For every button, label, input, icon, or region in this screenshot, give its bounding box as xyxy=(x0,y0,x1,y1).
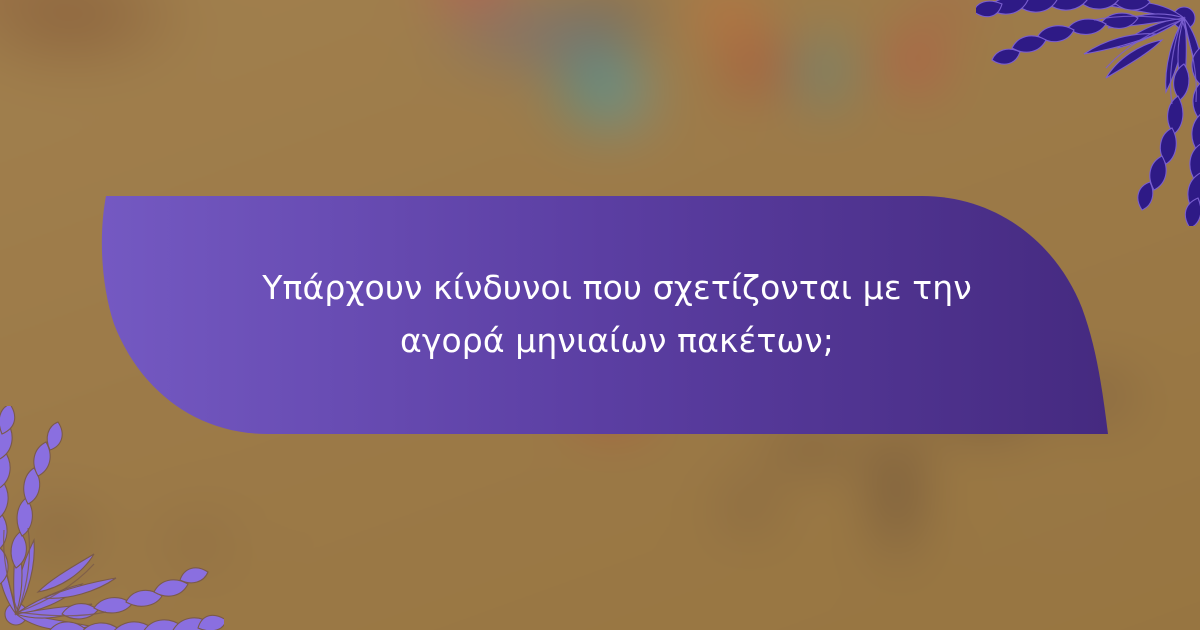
banner-text-block: Υπάρχουν κίνδυνοι που σχετίζονται με την… xyxy=(96,196,1108,434)
question-banner: Υπάρχουν κίνδυνοι που σχετίζονται με την… xyxy=(96,196,1108,434)
banner-line-1: Υπάρχουν κίνδυνοι που σχετίζονται με την xyxy=(262,261,972,314)
social-card: Υπάρχουν κίνδυνοι που σχετίζονται με την… xyxy=(0,0,1200,630)
banner-line-2: αγορά μηνιαίων πακέτων; xyxy=(400,314,834,367)
